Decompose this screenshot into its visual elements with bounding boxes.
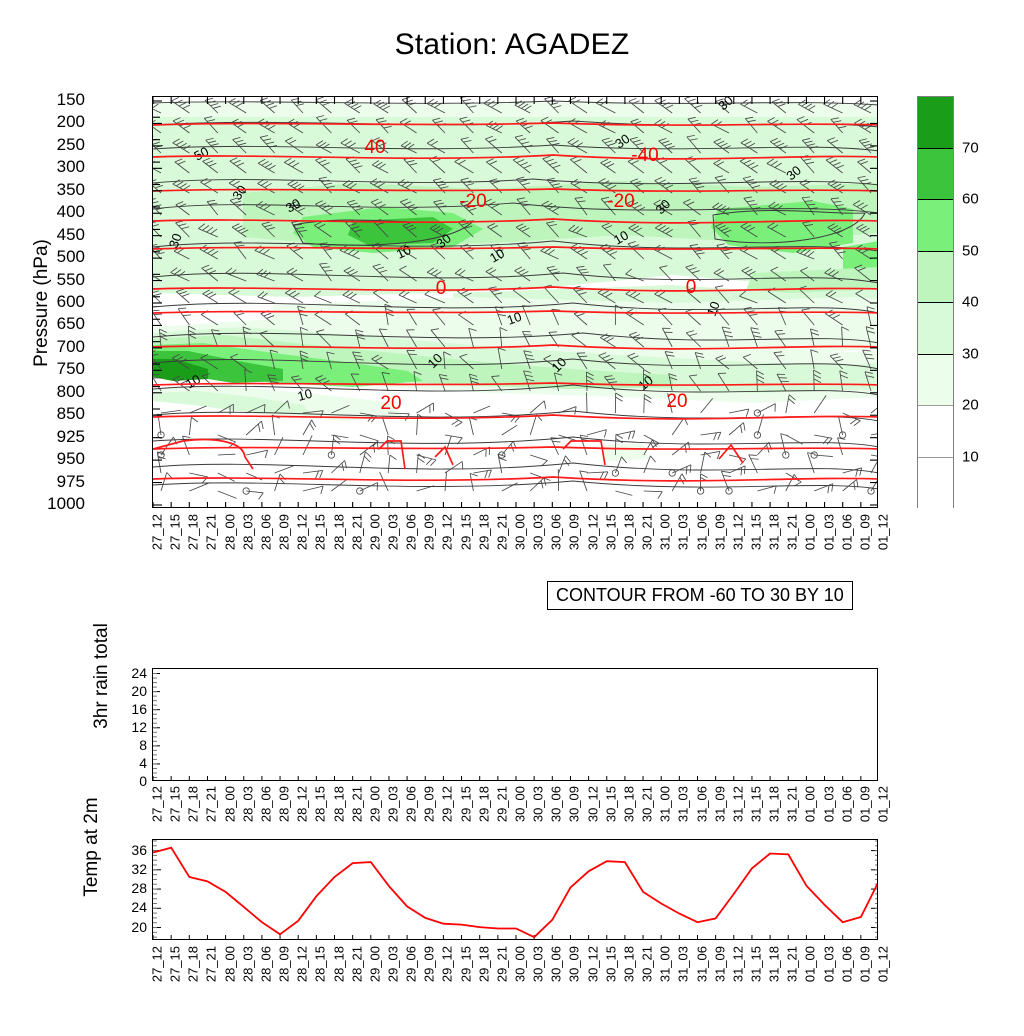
x-tick-label: 01_06: [839, 514, 854, 550]
x-tick-label: 31_15: [748, 946, 763, 982]
rain-total-panel[interactable]: [152, 668, 878, 781]
pressure-tick-label: 550: [57, 270, 85, 290]
pressure-tick-label: 150: [57, 90, 85, 110]
x-tick-label: 29_12: [440, 946, 455, 982]
x-tick-label: 29_03: [385, 946, 400, 982]
x-tick-label: 29_00: [367, 786, 382, 822]
x-tick-label: 31_21: [785, 786, 800, 822]
pressure-tick-label: 700: [57, 337, 85, 357]
x-tick-label: 31_00: [658, 786, 673, 822]
rain-tick-label: 12: [131, 719, 147, 735]
rain-tick-label: 20: [131, 683, 147, 699]
x-tick-label: 30_18: [621, 786, 636, 822]
x-tick-label: 28_06: [258, 514, 273, 550]
x-tick-label: 28_00: [222, 946, 237, 982]
x-tick-label: 31_18: [767, 786, 782, 822]
x-tick-label: 29_15: [458, 946, 473, 982]
x-tick-label: 29_21: [494, 786, 509, 822]
x-tick-label: 01_00: [803, 514, 818, 550]
x-tick-label: 31_12: [730, 786, 745, 822]
x-tick-label: 29_06: [404, 946, 419, 982]
x-tick-label: 01_09: [857, 946, 872, 982]
x-tick-label: 27_12: [150, 786, 165, 822]
x-tick-label: 30_15: [603, 946, 618, 982]
x-tick-label: 29_09: [422, 514, 437, 550]
temp-tick-label: 32: [131, 861, 147, 877]
x-tick-label: 31_03: [676, 786, 691, 822]
x-tick-label: 28_00: [222, 786, 237, 822]
x-tick-label: 31_09: [712, 514, 727, 550]
svg-text:40: 40: [364, 137, 385, 158]
x-tick-label: 01_03: [821, 514, 836, 550]
x-tick-label: 30_21: [640, 786, 655, 822]
x-tick-label: 28_03: [240, 946, 255, 982]
pressure-tick-label: 450: [57, 225, 85, 245]
rain-tick-label: 16: [131, 701, 147, 717]
pressure-tick-label: 250: [57, 135, 85, 155]
pressure-tick-label: 925: [57, 427, 85, 447]
x-tick-label: 31_09: [712, 786, 727, 822]
x-tick-label: 29_15: [458, 514, 473, 550]
x-tick-label: 28_21: [349, 946, 364, 982]
temp-x-tick-labels: 27_1227_1527_1827_2128_0028_0328_0628_09…: [152, 946, 878, 1036]
pressure-tick-label: 500: [57, 247, 85, 267]
rain-tick-label: 0: [139, 773, 147, 789]
x-tick-label: 29_15: [458, 786, 473, 822]
temp-tick-label: 28: [131, 880, 147, 896]
pressure-tick-label: 750: [57, 359, 85, 379]
x-tick-label: 27_21: [204, 786, 219, 822]
colorbar-band: [918, 200, 953, 252]
x-tick-label: 30_21: [640, 946, 655, 982]
main-y-axis-title: Pressure (hPa): [31, 203, 53, 403]
colorbar[interactable]: [917, 96, 954, 508]
x-tick-label: 31_03: [676, 514, 691, 550]
x-tick-label: 30_00: [513, 514, 528, 550]
pressure-tick-label: 800: [57, 382, 85, 402]
x-tick-label: 01_09: [857, 514, 872, 550]
x-tick-label: 29_06: [404, 786, 419, 822]
x-tick-label: 01_03: [821, 946, 836, 982]
x-tick-label: 28_06: [258, 946, 273, 982]
pressure-tick-label: 300: [57, 157, 85, 177]
x-tick-label: 27_18: [186, 946, 201, 982]
x-tick-label: 28_12: [295, 786, 310, 822]
x-tick-label: 31_15: [748, 514, 763, 550]
x-tick-label: 01_09: [857, 786, 872, 822]
rain-plot: [153, 669, 878, 781]
x-tick-label: 28_00: [222, 514, 237, 550]
x-tick-label: 31_18: [767, 514, 782, 550]
x-tick-label: 31_15: [748, 786, 763, 822]
x-tick-label: 31_03: [676, 946, 691, 982]
pressure-tick-label: 350: [57, 180, 85, 200]
x-tick-label: 31_06: [694, 786, 709, 822]
x-tick-label: 30_09: [567, 514, 582, 550]
x-tick-label: 30_18: [621, 946, 636, 982]
x-tick-label: 30_15: [603, 786, 618, 822]
x-tick-label: 27_15: [168, 786, 183, 822]
x-tick-label: 30_03: [531, 786, 546, 822]
colorbar-band: [918, 355, 953, 407]
colorbar-tick-label: 10: [962, 448, 979, 465]
x-tick-label: 29_18: [476, 514, 491, 550]
x-tick-label: 28_15: [313, 786, 328, 822]
svg-text:0: 0: [436, 278, 447, 299]
x-tick-label: 29_09: [422, 786, 437, 822]
pressure-tick-label: 950: [57, 449, 85, 469]
temp-tick-label: 24: [131, 899, 147, 915]
x-tick-label: 29_03: [385, 514, 400, 550]
colorbar-tick-label: 50: [962, 242, 979, 259]
chart-page: Station: AGADEZ Pressure (hPa) 150200250…: [0, 0, 1024, 1024]
colorbar-band: [918, 303, 953, 355]
pressure-tick-label: 200: [57, 112, 85, 132]
x-tick-label: 28_21: [349, 514, 364, 550]
x-tick-label: 29_18: [476, 786, 491, 822]
colorbar-band: [918, 458, 953, 510]
x-tick-label: 29_00: [367, 514, 382, 550]
x-tick-label: 29_12: [440, 514, 455, 550]
temp-at-2m-panel[interactable]: [152, 839, 878, 940]
x-tick-label: 27_12: [150, 514, 165, 550]
x-tick-label: 27_21: [204, 946, 219, 982]
x-tick-label: 29_03: [385, 786, 400, 822]
x-tick-label: 29_00: [367, 946, 382, 982]
rain-tick-label: 24: [131, 665, 147, 681]
x-tick-label: 31_21: [785, 514, 800, 550]
x-tick-label: 29_18: [476, 946, 491, 982]
x-tick-label: 27_18: [186, 514, 201, 550]
x-tick-label: 01_12: [876, 786, 891, 822]
svg-text:20: 20: [380, 393, 401, 414]
x-tick-label: 30_09: [567, 786, 582, 822]
x-tick-label: 30_12: [585, 786, 600, 822]
x-tick-label: 30_09: [567, 946, 582, 982]
x-tick-label: 29_21: [494, 514, 509, 550]
x-tick-label: 01_06: [839, 946, 854, 982]
temp-tick-label: 36: [131, 842, 147, 858]
x-tick-label: 31_12: [730, 946, 745, 982]
x-tick-label: 29_21: [494, 946, 509, 982]
colorbar-tick-label: 30: [962, 345, 979, 362]
x-tick-label: 30_06: [549, 786, 564, 822]
x-tick-label: 30_12: [585, 514, 600, 550]
x-tick-label: 29_06: [404, 514, 419, 550]
x-tick-label: 30_00: [513, 946, 528, 982]
x-tick-label: 27_15: [168, 514, 183, 550]
x-tick-label: 28_12: [295, 514, 310, 550]
page-title: Station: AGADEZ: [0, 28, 1024, 62]
temp-plot: [153, 840, 878, 940]
colorbar-tick-label: 60: [962, 191, 979, 208]
pressure-tick-label: 600: [57, 292, 85, 312]
x-tick-label: 30_00: [513, 786, 528, 822]
x-tick-label: 30_03: [531, 514, 546, 550]
x-tick-label: 30_06: [549, 514, 564, 550]
x-tick-label: 30_15: [603, 514, 618, 550]
rain-tick-label: 4: [139, 755, 147, 771]
x-tick-label: 31_21: [785, 946, 800, 982]
x-tick-label: 27_15: [168, 946, 183, 982]
x-tick-label: 31_06: [694, 514, 709, 550]
x-tick-label: 01_00: [803, 946, 818, 982]
colorbar-band: [918, 406, 953, 458]
x-tick-label: 27_21: [204, 514, 219, 550]
colorbar-band: [918, 97, 953, 149]
rain-tick-label: 8: [139, 737, 147, 753]
svg-text:20: 20: [666, 391, 687, 412]
x-tick-label: 30_03: [531, 946, 546, 982]
x-tick-label: 28_18: [331, 946, 346, 982]
x-tick-label: 27_12: [150, 946, 165, 982]
x-tick-label: 30_18: [621, 514, 636, 550]
x-tick-label: 01_06: [839, 786, 854, 822]
temp-y-axis-title: Temp at 2m: [81, 727, 103, 967]
x-tick-label: 31_06: [694, 946, 709, 982]
cross-section-plot: 5030303030301010301010101010101010101030…: [153, 97, 878, 508]
colorbar-band: [918, 149, 953, 201]
x-tick-label: 31_09: [712, 946, 727, 982]
x-tick-label: 31_00: [658, 514, 673, 550]
x-tick-label: 31_12: [730, 514, 745, 550]
x-tick-label: 28_09: [277, 514, 292, 550]
svg-text:-20: -20: [607, 191, 634, 212]
x-tick-label: 28_15: [313, 946, 328, 982]
pressure-tick-label: 650: [57, 314, 85, 334]
x-tick-label: 01_00: [803, 786, 818, 822]
x-tick-label: 28_03: [240, 786, 255, 822]
svg-text:0: 0: [686, 277, 697, 298]
x-tick-label: 29_09: [422, 946, 437, 982]
wind-temperature-cross-section-panel[interactable]: 5030303030301010301010101010101010101030…: [152, 96, 878, 508]
colorbar-tick-label: 40: [962, 294, 979, 311]
colorbar-band: [918, 252, 953, 304]
temp-tick-label: 20: [131, 919, 147, 935]
x-tick-label: 29_12: [440, 786, 455, 822]
contour-caption: CONTOUR FROM -60 TO 30 BY 10: [547, 581, 853, 610]
x-tick-label: 28_06: [258, 786, 273, 822]
x-tick-label: 28_09: [277, 946, 292, 982]
pressure-tick-label: 975: [57, 472, 85, 492]
x-tick-label: 28_21: [349, 786, 364, 822]
pressure-tick-label: 850: [57, 404, 85, 424]
x-tick-label: 28_18: [331, 514, 346, 550]
x-tick-label: 31_00: [658, 946, 673, 982]
x-tick-label: 01_12: [876, 946, 891, 982]
x-tick-label: 01_12: [876, 514, 891, 550]
x-tick-label: 28_03: [240, 514, 255, 550]
x-tick-label: 28_12: [295, 946, 310, 982]
x-tick-label: 28_09: [277, 786, 292, 822]
x-tick-label: 30_21: [640, 514, 655, 550]
x-tick-label: 31_18: [767, 946, 782, 982]
x-tick-label: 01_03: [821, 786, 836, 822]
main-y-tick-labels: 1502002503003504004505005506006507007508…: [88, 96, 89, 508]
pressure-tick-label: 400: [57, 202, 85, 222]
colorbar-tick-labels: 70605040302010: [962, 96, 1022, 508]
svg-text:-40: -40: [631, 145, 658, 166]
x-tick-label: 27_18: [186, 786, 201, 822]
x-tick-label: 30_06: [549, 946, 564, 982]
svg-text:-20: -20: [459, 191, 486, 212]
x-tick-label: 28_15: [313, 514, 328, 550]
colorbar-tick-label: 20: [962, 397, 979, 414]
colorbar-tick-label: 70: [962, 139, 979, 156]
x-tick-label: 30_12: [585, 946, 600, 982]
x-tick-label: 28_18: [331, 786, 346, 822]
pressure-tick-label: 1000: [47, 494, 85, 514]
